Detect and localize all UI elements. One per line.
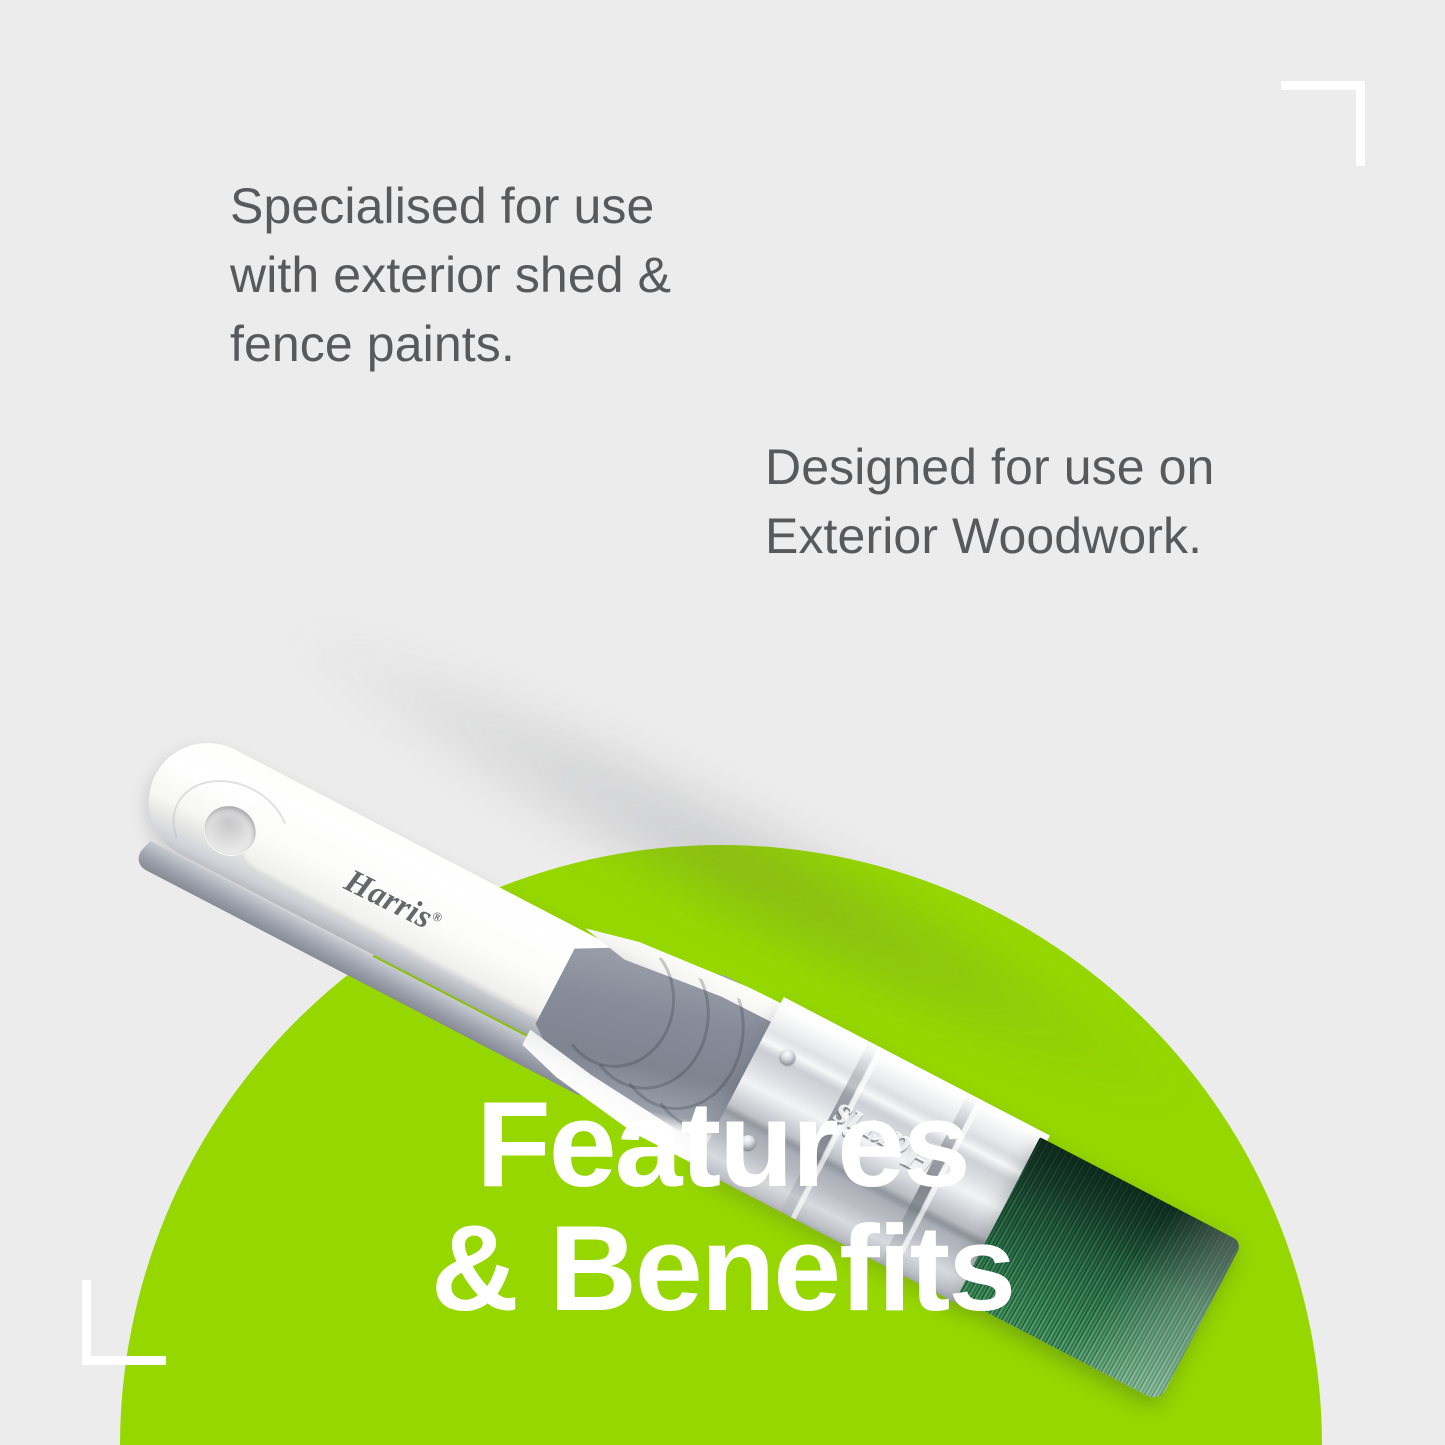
headline-line-2: & Benefits bbox=[0, 1206, 1445, 1330]
callout-specialised: Specialised for use with exterior shed &… bbox=[230, 172, 770, 379]
features-benefits-headline: Features & Benefits bbox=[0, 1082, 1445, 1331]
headline-line-1: Features bbox=[0, 1082, 1445, 1206]
corner-bracket-top-right bbox=[1281, 81, 1365, 166]
callout-designed: Designed for use on Exterior Woodwork. bbox=[765, 433, 1305, 571]
bracket-horizontal-bar bbox=[1281, 81, 1365, 90]
product-feature-banner: Harris® Harris Specialised f bbox=[0, 0, 1445, 1445]
corner-bracket-bottom-left bbox=[82, 1280, 166, 1365]
bracket-horizontal-bar bbox=[82, 1356, 166, 1365]
bracket-vertical-bar bbox=[1356, 81, 1365, 166]
bracket-vertical-bar bbox=[82, 1280, 91, 1365]
